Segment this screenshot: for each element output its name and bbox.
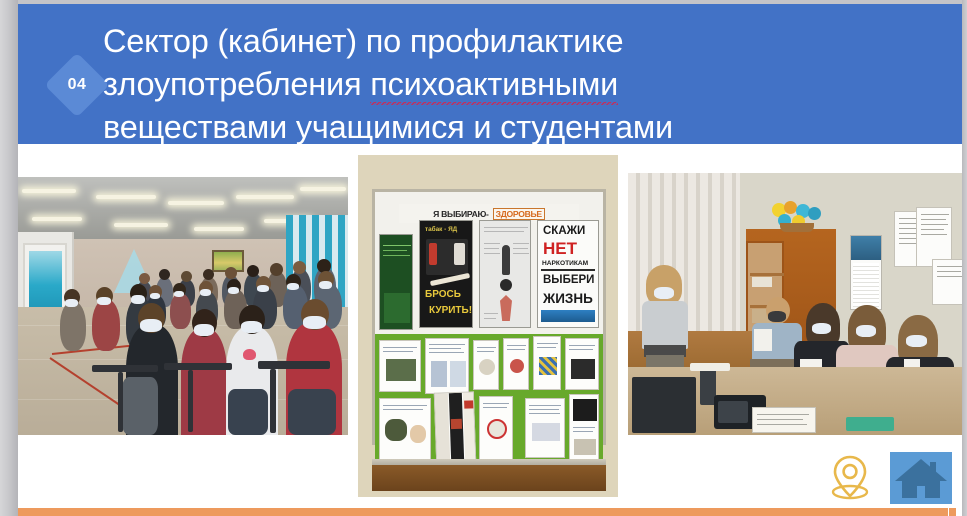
ceiling-lamp [194,227,244,231]
footer-accent-tick [949,508,956,516]
poster-tobacco-line2: БРОСЬ [425,289,461,300]
board-header-word1: Я ВЫБИРАЮ- [433,209,488,219]
ceiling-lamp [114,223,168,227]
board-header-word2: ЗДОРОВЬЕ [493,208,545,220]
board-poster-info [479,220,531,328]
board-poster-drugs: СКАЖИ НЕТ НАРКОТИКАМ ВЫБЕРИ ЖИЗНЬ [537,220,599,328]
ceiling-lamp [22,189,76,193]
board-frame: Я ВЫБИРАЮ- ЗДОРОВЬЕ табак - ЯД БРОСЬ КУР… [372,189,606,445]
board-poster-green [379,234,413,330]
monitor [632,377,696,433]
desk-folder [846,417,894,431]
photo-office-consultation [628,173,967,435]
photo-lecture-hall [18,177,348,435]
desk-papers [752,407,816,433]
wall-document [916,207,952,267]
ceiling-lamp [300,187,346,191]
board-leaflet [473,340,499,390]
title-banner: 04 Сектор (кабинет) по профилактике злоу… [18,4,967,144]
title-line-1: Сектор (кабинет) по профилактике [103,20,967,63]
board-leaflet [533,336,561,390]
home-icon[interactable] [890,452,952,504]
window-left-edge [0,0,18,516]
board-leaflet [565,338,599,390]
ceiling-lamp [32,217,82,221]
poster-tobacco-line1: табак - ЯД [425,226,457,233]
slide-root: 04 Сектор (кабинет) по профилактике злоу… [0,0,967,516]
title-line-3: веществами учащимися и студентами [103,106,967,149]
photo-info-board: Я ВЫБИРАЮ- ЗДОРОВЬЕ табак - ЯД БРОСЬ КУР… [358,155,618,497]
board-leaflet [503,338,529,390]
wood-panel [372,465,606,491]
desk-lamp-head [690,363,730,371]
board-leaflet [379,398,431,460]
board-leaflet [434,391,476,462]
ceiling-lamp [168,201,224,205]
board-poster-tobacco: табак - ЯД БРОСЬ КУРИТЬ! [419,220,473,328]
board-leaflet [525,398,565,458]
ceiling-lamp [236,195,294,199]
ceiling-lamp [96,195,156,199]
window-top-edge [0,0,967,4]
flower-basket [770,201,826,231]
poster-drugs-line3: НАРКОТИКАМ [542,260,588,267]
slide-number-label: 04 [54,62,100,108]
poster-tobacco-line3: КУРИТЬ! [429,305,472,316]
page-title: Сектор (кабинет) по профилактике злоупот… [103,20,967,149]
calendar-image [851,236,881,260]
board-leaflet [379,340,421,392]
calendar-grid [853,263,879,307]
title-line-2-prefix: злоупотребления [103,66,370,102]
footer-accent-bar [18,508,948,516]
poster-drugs-line4: ВЫБЕРИ [543,274,594,286]
title-line-2: злоупотребления психоактивными [103,63,967,106]
door-glass [29,251,62,313]
board-leaflet [479,396,513,460]
title-misspelled-word: психоактивными [370,66,618,105]
poster-drugs-line5: ЖИЗНЬ [543,291,593,306]
window-right-edge [962,0,967,516]
board-leaflet [425,338,469,394]
map-pin-icon[interactable] [826,452,874,502]
wall-calendar [850,235,882,310]
poster-drugs-line2: НЕТ [543,239,577,259]
board-leaflet [569,394,599,460]
poster-drugs-line1: СКАЖИ [543,225,585,237]
